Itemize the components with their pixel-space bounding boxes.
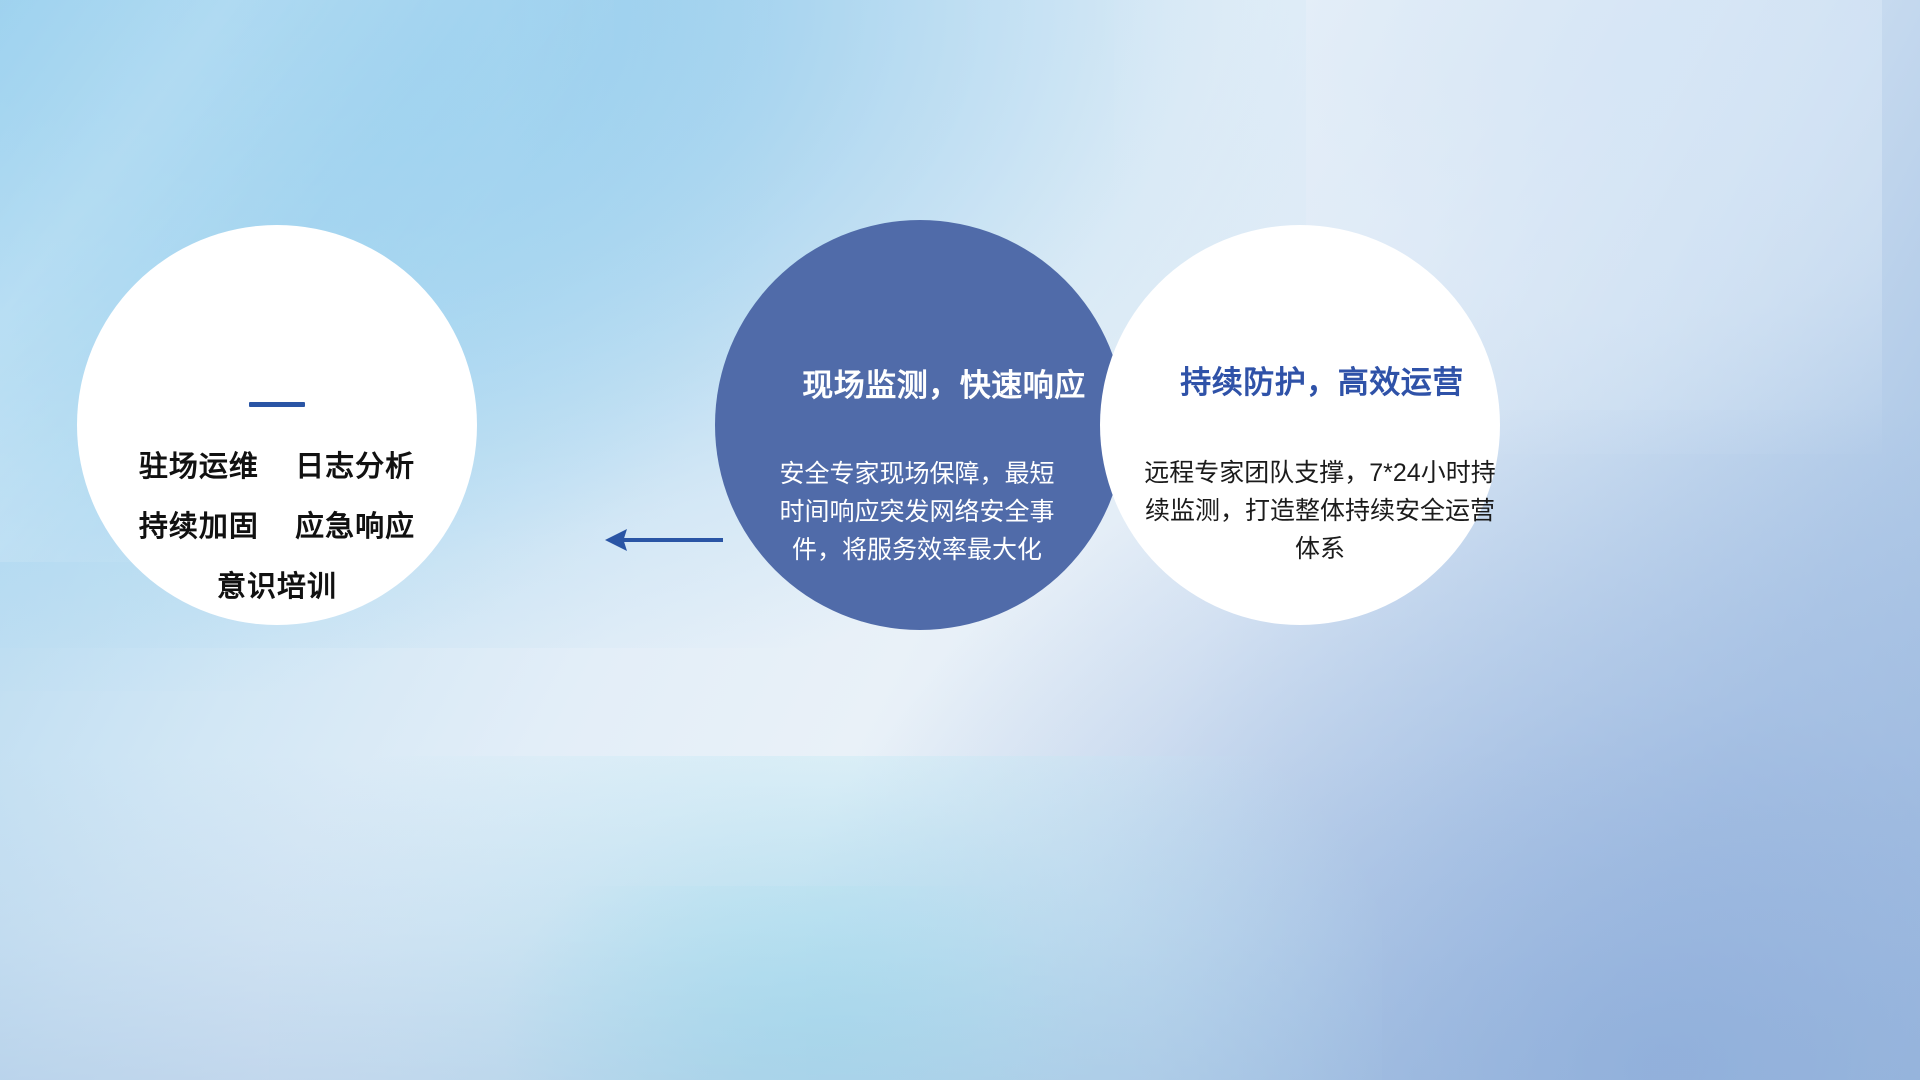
middle-circle-title: 现场监测，快速响应 [739,360,1149,405]
left-circle-card: 驻场运维 日志分析 持续加固 应急响应 意识培训 [77,225,477,625]
slide-canvas: 现场监测，快速响应 安全专家现场保障，最短时间响应突发网络安全事件，将服务效率最… [0,0,1920,1080]
list-item: 持续加固 应急响应 [77,513,477,542]
middle-circle-card: 现场监测，快速响应 安全专家现场保障，最短时间响应突发网络安全事件，将服务效率最… [715,220,1125,630]
right-circle-content: 持续防护，高效运营 远程专家团队支撑，7*24小时持续监测，打造整体持续安全运营… [1100,225,1500,625]
middle-circle-body: 安全专家现场保障，最短时间响应突发网络安全事件，将服务效率最大化 [777,455,1057,569]
accent-divider-dash [249,402,305,407]
list-item: 驻场运维 日志分析 [77,453,477,482]
list-item: 意识培训 [77,573,477,602]
service-list: 驻场运维 日志分析 持续加固 应急响应 意识培训 [77,453,477,602]
background-bottom-shade [0,756,1920,1080]
arrow-left-icon [603,524,723,556]
right-circle-title: 持续防护，高效运营 [1122,357,1522,402]
right-circle-card: 持续防护，高效运营 远程专家团队支撑，7*24小时持续监测，打造整体持续安全运营… [1100,225,1500,625]
connector-arrow [603,524,723,556]
middle-circle-content: 现场监测，快速响应 安全专家现场保障，最短时间响应突发网络安全事件，将服务效率最… [715,220,1125,630]
right-circle-body: 远程专家团队支撑，7*24小时持续监测，打造整体持续安全运营体系 [1138,454,1502,568]
left-circle-content: 驻场运维 日志分析 持续加固 应急响应 意识培训 [77,225,477,625]
